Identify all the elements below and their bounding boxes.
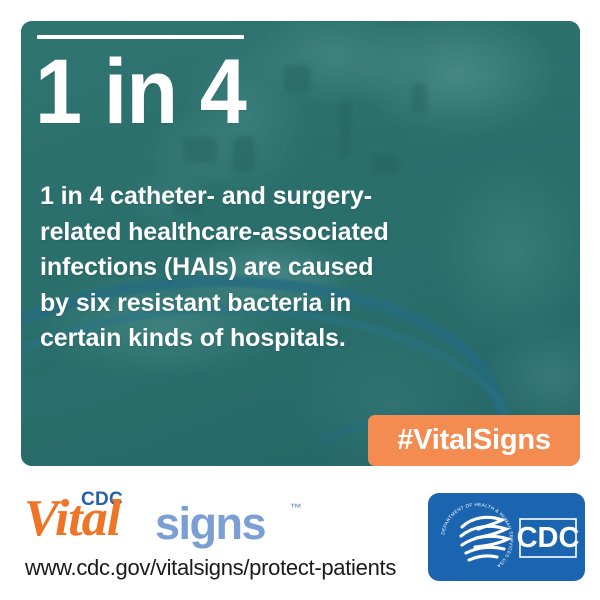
footer: CDC Vital signs ™ www.cdc.gov/vitalsigns… <box>0 466 600 600</box>
divider-rule <box>37 35 244 39</box>
logo-vital-text: Vital <box>24 493 120 545</box>
hero-panel: 1 in 4 1 in 4 catheter- and surgery-rela… <box>21 21 580 466</box>
hhs-department-ring-text: DEPARTMENT OF HEALTH & HUMAN SERVICES US… <box>440 502 514 569</box>
website-url: www.cdc.gov/vitalsigns/protect-patients <box>25 555 396 581</box>
seal-artwork: DEPARTMENT OF HEALTH & HUMAN SERVICES US… <box>428 493 585 581</box>
headline-statistic: 1 in 4 <box>35 43 246 141</box>
vitalsigns-logo: CDC Vital signs ™ <box>24 489 314 543</box>
logo-signs-text: signs <box>155 501 265 546</box>
hero-content: 1 in 4 1 in 4 catheter- and surgery-rela… <box>21 21 580 466</box>
seal-cdc-text: CDC <box>517 522 580 554</box>
hhs-bird-logo <box>461 517 508 560</box>
hashtag-badge: #VitalSigns <box>368 415 580 466</box>
body-copy: 1 in 4 catheter- and surgery-related hea… <box>40 179 390 357</box>
logo-trademark-symbol: ™ <box>290 501 302 515</box>
hhs-cdc-seal: DEPARTMENT OF HEALTH & HUMAN SERVICES US… <box>428 493 585 581</box>
